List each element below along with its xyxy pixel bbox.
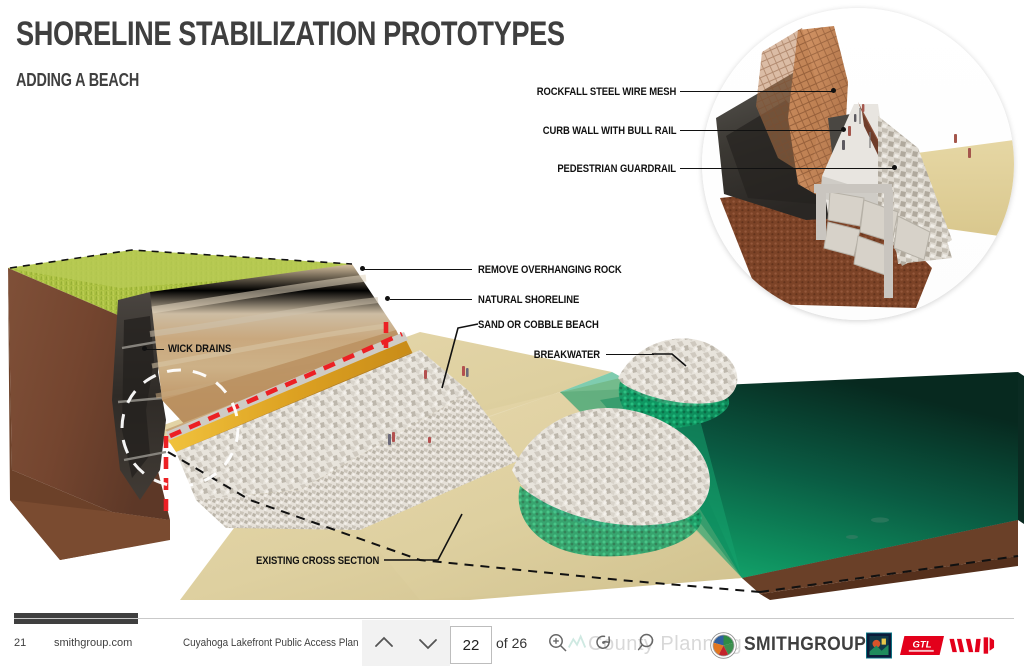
leader-remove-overhanging-rock [364, 269, 472, 270]
footer-page-number: 21 [14, 637, 26, 649]
footer-divider [14, 618, 1014, 619]
label-rockfall-steel-wire-mesh: ROCKFALL STEEL WIRE MESH [537, 86, 676, 98]
label-breakwater: BREAKWATER [534, 349, 600, 361]
label-wick-drains: WICK DRAINS [168, 343, 231, 355]
dot-wick-drains [142, 346, 147, 351]
leader-rockfall-steel-wire-mesh [680, 91, 834, 92]
page-subtitle: ADDING A BEACH [16, 69, 139, 91]
rotate-icon [592, 631, 616, 655]
leader-existing-cross-section [384, 510, 464, 566]
dot-remove-overhanging-rock [360, 266, 365, 271]
leader-sand-or-cobble-beach [440, 316, 480, 392]
label-natural-shoreline: NATURAL SHORELINE [478, 294, 579, 306]
wsp-logo [948, 633, 1000, 658]
label-remove-overhanging-rock: REMOVE OVERHANGING ROCK [478, 264, 622, 276]
dot-natural-shoreline [385, 296, 390, 301]
page-count-label: of 26 [496, 620, 527, 666]
dot-pedestrian-guardrail [892, 165, 897, 170]
search-button[interactable] [630, 620, 666, 666]
detail-inset-circle [702, 8, 1014, 320]
county-seal-logo [710, 632, 737, 659]
leader-breakwater-hook [650, 350, 690, 374]
dot-curb-wall-with-bull-rail [841, 127, 846, 132]
leader-wick-drains [146, 349, 164, 350]
footer-project-name: Cuyahoga Lakefront Public Access Plan [183, 637, 359, 649]
label-sand-or-cobble-beach: SAND OR COBBLE BEACH [478, 319, 599, 331]
label-existing-cross-section: EXISTING CROSS SECTION [256, 555, 379, 567]
gtl-logo: GTL [900, 634, 944, 657]
dot-rockfall-steel-wire-mesh [831, 88, 836, 93]
leader-pedestrian-guardrail [680, 168, 895, 169]
chevron-down-icon [415, 630, 441, 656]
search-icon [636, 631, 660, 655]
page-number-input[interactable]: 22 [450, 626, 492, 664]
leader-natural-shoreline [390, 299, 472, 300]
label-pedestrian-guardrail: PEDESTRIAN GUARDRAIL [557, 163, 676, 175]
next-page-button[interactable] [406, 620, 450, 666]
zoom-in-icon [546, 631, 570, 655]
svg-text:GTL: GTL [912, 640, 931, 651]
rotate-button[interactable] [586, 620, 622, 666]
partner-square-logo [866, 632, 892, 659]
pdf-page: ROCKFALL STEEL WIRE MESH CURB WALL WITH … [0, 0, 1028, 666]
previous-page-button[interactable] [362, 620, 406, 666]
leader-breakwater [606, 354, 654, 355]
chevron-up-icon [371, 630, 397, 656]
smithgroup-logo-text: SMITHGROUP [744, 634, 866, 656]
footer-website: smithgroup.com [54, 637, 132, 649]
label-curb-wall-with-bull-rail: CURB WALL WITH BULL RAIL [542, 125, 676, 137]
page-title: SHORELINE STABILIZATION PROTOTYPES [16, 14, 565, 54]
zoom-in-button[interactable] [540, 620, 576, 666]
leader-curb-wall-with-bull-rail [680, 130, 844, 131]
